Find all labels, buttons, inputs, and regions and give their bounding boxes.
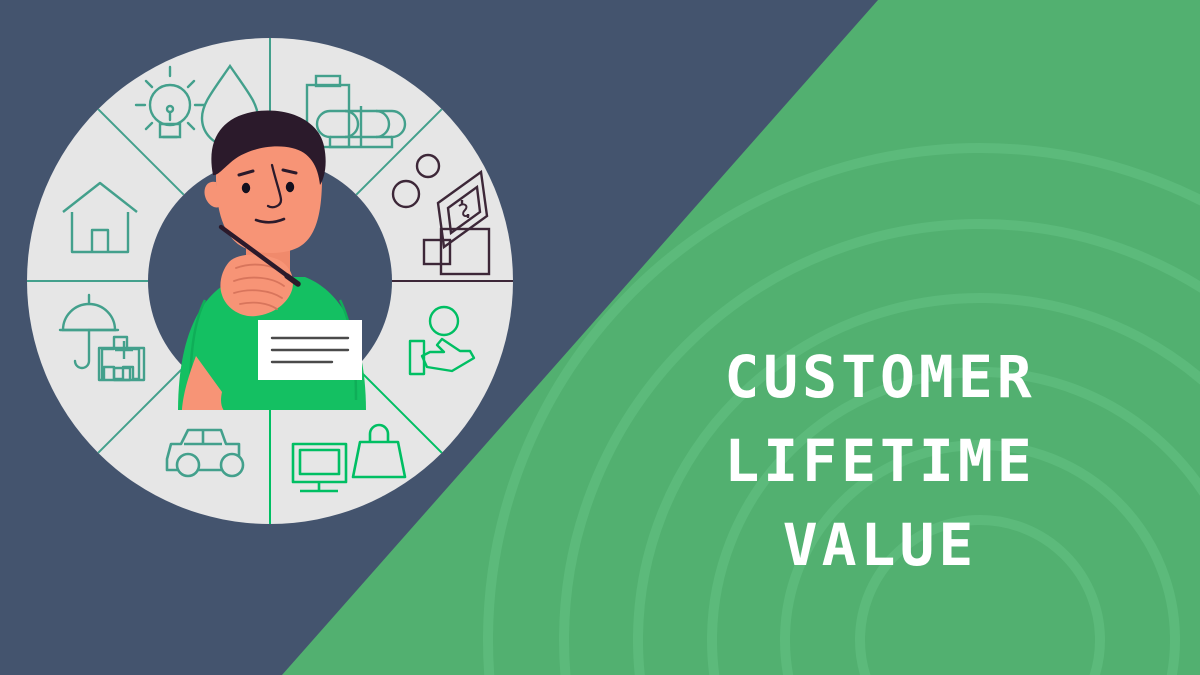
title-line-3: VALUE <box>620 503 1140 587</box>
title-line-1: CUSTOMER <box>620 335 1140 419</box>
eye-left <box>242 183 250 193</box>
page-title: CUSTOMER LIFETIME VALUE <box>620 335 1140 587</box>
eye-right <box>286 182 294 192</box>
poster-canvas: CUSTOMER LIFETIME VALUE <box>0 0 1200 675</box>
title-line-2: LIFETIME <box>620 419 1140 503</box>
